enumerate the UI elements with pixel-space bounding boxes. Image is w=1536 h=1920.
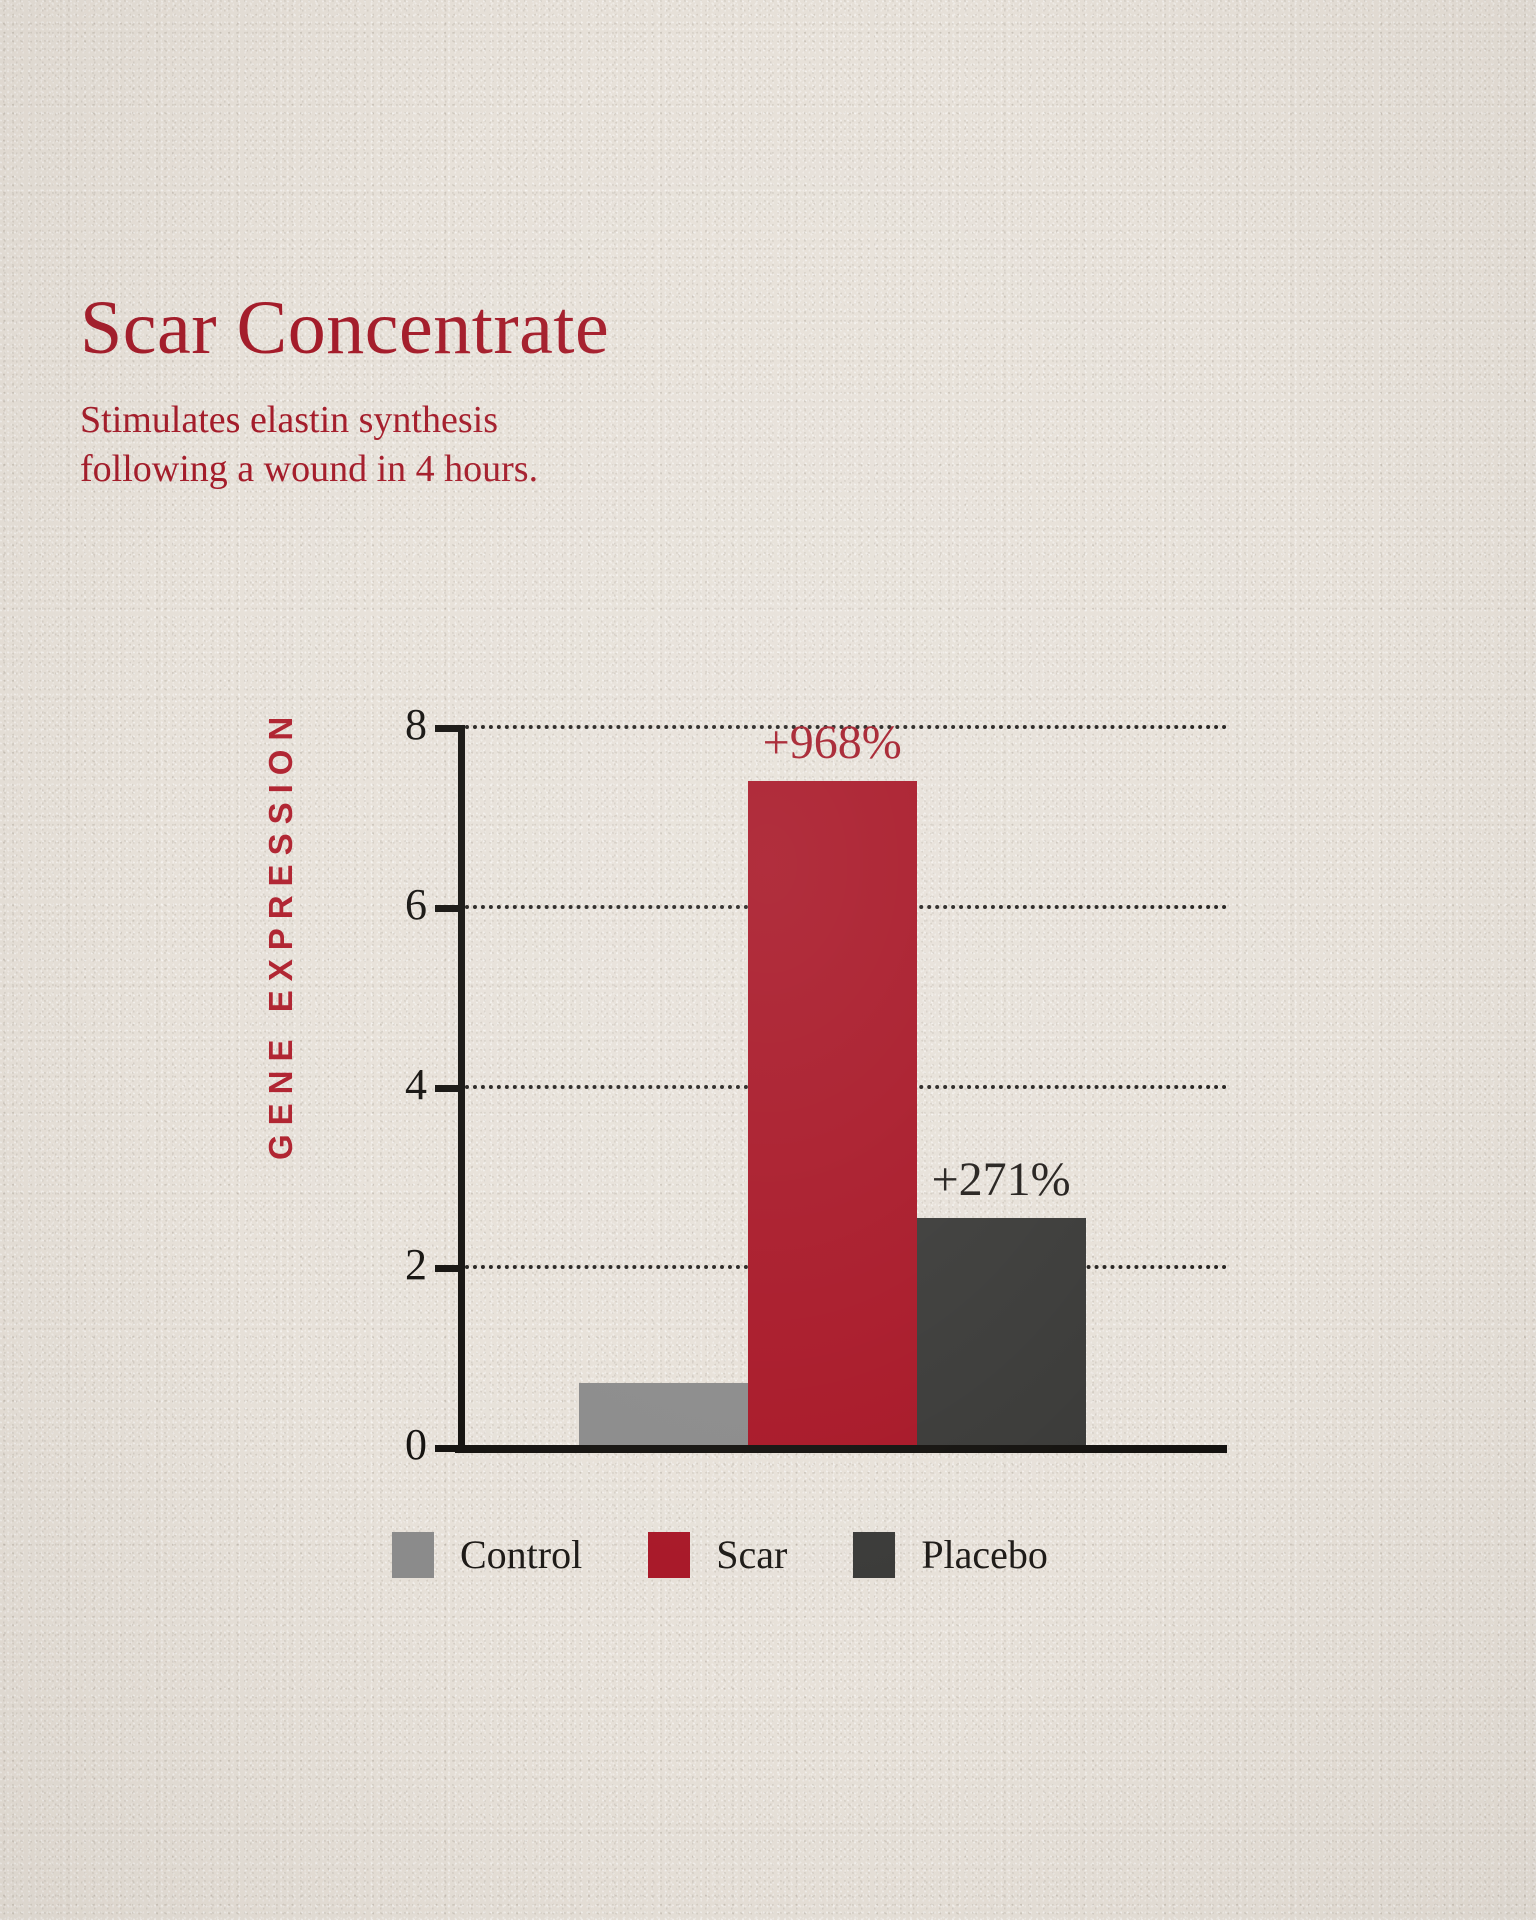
chart-legend: ControlScarPlacebo [392,1532,1114,1578]
legend-label: Placebo [921,1535,1048,1575]
x-axis-line [455,1445,1227,1453]
legend-swatch-icon [853,1532,895,1578]
legend-label: Control [460,1535,582,1575]
legend-label: Scar [716,1535,787,1575]
legend-item[interactable]: Scar [648,1532,787,1578]
y-tick-mark [435,1445,465,1452]
bar-control [579,1383,748,1445]
y-tick-mark [435,905,465,912]
bar-placebo [917,1218,1086,1445]
y-tick-mark [435,1085,465,1092]
bar-value-label-placebo: +271% [869,1156,1133,1204]
bar-scar [748,781,917,1445]
y-axis-label: GENE EXPRESSION [262,460,300,1160]
legend-item[interactable]: Placebo [853,1532,1048,1578]
plot-area: 02468 +968%+271% [465,725,1227,1445]
legend-swatch-icon [648,1532,690,1578]
legend-item[interactable]: Control [392,1532,582,1578]
y-tick-mark [435,725,465,732]
y-tick-mark [435,1265,465,1272]
legend-swatch-icon [392,1532,434,1578]
bar-value-label-scar: +968% [700,719,964,767]
bar-chart: GENE EXPRESSION 02468 +968%+271% Control… [0,0,1536,1920]
